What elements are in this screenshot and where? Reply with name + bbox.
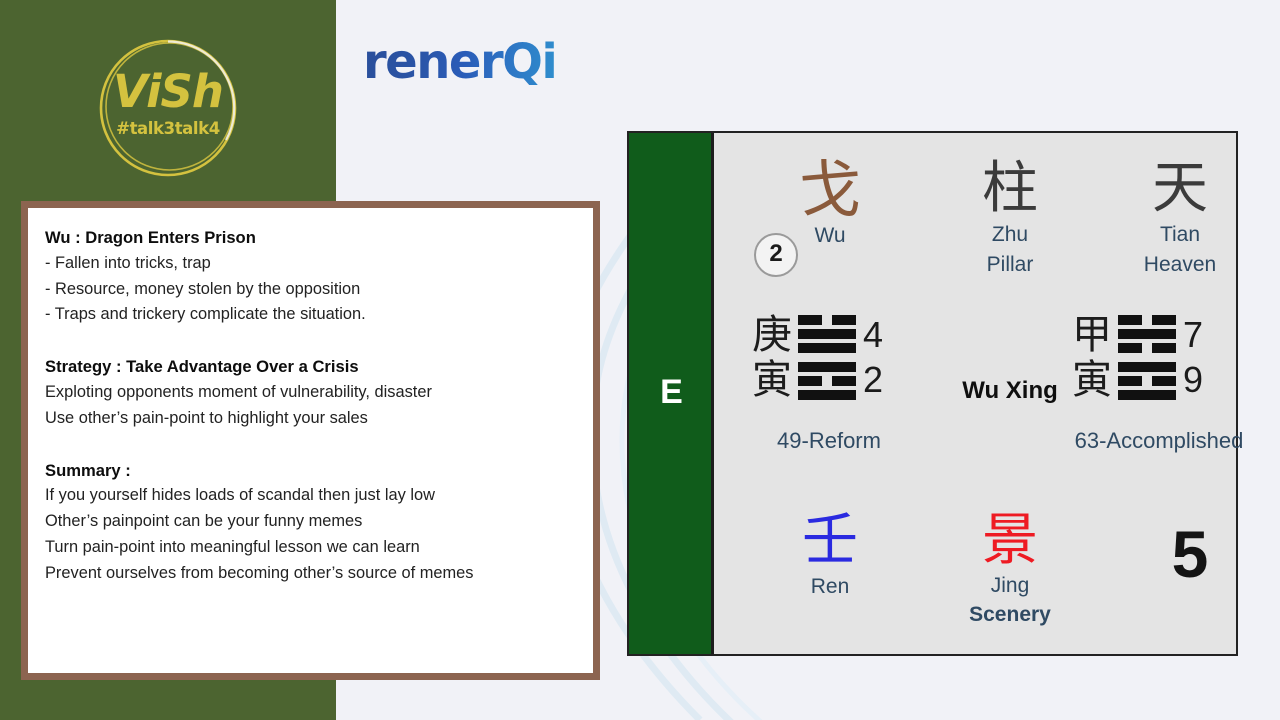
hexagram-left-stems: 庚 寅 [752,313,792,403]
trigram-line [798,315,856,325]
hexagram-left-numbers: 4 2 [863,313,883,402]
hexagram-right-numbers: 7 9 [1183,313,1203,402]
vish-logo: ViSh #talk3talk4 [96,36,240,180]
card-body-line: Other’s painpoint can be your funny meme… [45,509,593,535]
trigram-line [1118,315,1176,325]
palace-big-number: 5 [1110,521,1270,587]
card-heading: Summary : [45,458,593,484]
english-zhu: Pillar [930,253,1090,277]
hanzi-ren: 壬 [750,513,910,569]
hexagram-left-stem-bottom: 寅 [752,358,792,403]
romaji-ren: Ren [750,575,910,599]
card-heading: Wu : Dragon Enters Prison [45,225,593,251]
palace-cell-star-zhu: 柱 Zhu Pillar [930,161,1090,276]
romaji-jing: Jing [920,574,1100,598]
card-body-line: Turn pain-point into meaningful lesson w… [45,535,593,561]
trigram-line [1118,390,1176,400]
hanzi-zhu: 柱 [930,161,1090,217]
card-text-block: Wu : Dragon Enters Prison- Fallen into t… [45,225,593,587]
hexagram-right-lower-trigram [1118,362,1176,400]
logo-tagline: #talk3talk4 [96,121,240,138]
card-body-line: - Resource, money stolen by the oppositi… [45,277,593,303]
palace-number-badge: 2 [754,233,798,277]
hexagram-left-caption: 49-Reform [704,428,954,453]
trigram-line [798,390,856,400]
card-body-line: If you yourself hides loads of scandal t… [45,483,593,509]
hexagram-left-number-bottom: 2 [863,358,883,403]
trigram-line [798,343,856,353]
trigram-line [798,362,856,372]
hexagram-left-number-top: 4 [863,313,883,358]
hexagram-left-upper-trigram [798,315,856,353]
card-body-line: - Traps and trickery complicate the situ… [45,302,593,328]
english-jing: Scenery [920,603,1100,627]
hexagram-left-stem-top: 庚 [752,313,792,358]
romaji-zhu: Zhu [930,223,1090,247]
palace-cell-gate-jing: 景 Jing Scenery [920,513,1100,626]
english-tian: Heaven [1100,253,1260,277]
hexagram-right-upper-trigram [1118,315,1176,353]
card-body-line: Use other’s pain-point to highlight your… [45,406,593,432]
brand-wordmark: renerQi [363,38,556,86]
content-card: Wu : Dragon Enters Prison- Fallen into t… [21,201,600,680]
hanzi-tian: 天 [1100,161,1260,217]
trigram-line [1118,343,1176,353]
trigram-line [1118,376,1176,386]
trigram-line [798,376,856,386]
trigram-line [798,329,856,339]
hexagram-right-number-bottom: 9 [1183,358,1203,403]
hexagram-right-stems: 甲 寅 [1072,313,1112,403]
qimen-palace-panel: E 戈 Wu 2 柱 Zhu Pillar 天 Tian Heaven 庚 寅 [627,131,1238,656]
palace-cell-stem-ren: 壬 Ren [750,513,910,599]
trigram-line [1118,362,1176,372]
card-heading: Strategy : Take Advantage Over a Crisis [45,354,593,380]
hexagram-right-number-top: 7 [1183,313,1203,358]
card-body-line: Exploting opponents moment of vulnerabil… [45,380,593,406]
trigram-line [1118,329,1176,339]
hanzi-jing: 景 [920,513,1100,569]
palace-grid: 戈 Wu 2 柱 Zhu Pillar 天 Tian Heaven 庚 寅 [714,133,1236,654]
hexagram-right-caption: 63-Accomplished [1044,428,1274,453]
direction-label: E [629,375,714,409]
hexagram-left-lines [798,315,856,400]
romaji-tian: Tian [1100,223,1260,247]
card-body-line: Prevent ourselves from becoming other’s … [45,561,593,587]
palace-cell-number: 5 [1110,521,1270,587]
hexagram-left: 庚 寅 4 2 [752,313,883,403]
card-spacer [45,432,593,458]
card-spacer [45,328,593,354]
hexagram-right: 甲 寅 7 9 [1072,313,1203,403]
hexagram-right-stem-top: 甲 [1072,313,1112,358]
hexagram-right-stem-bottom: 寅 [1072,358,1112,403]
logo-wordmark: ViSh [96,69,240,114]
palace-cell-deity-tian: 天 Tian Heaven [1100,161,1260,276]
hexagram-right-lines [1118,315,1176,400]
direction-bar: E [629,133,714,654]
card-body-line: - Fallen into tricks, trap [45,251,593,277]
hanzi-wu: 戈 [750,159,910,221]
hexagram-left-lower-trigram [798,362,856,400]
